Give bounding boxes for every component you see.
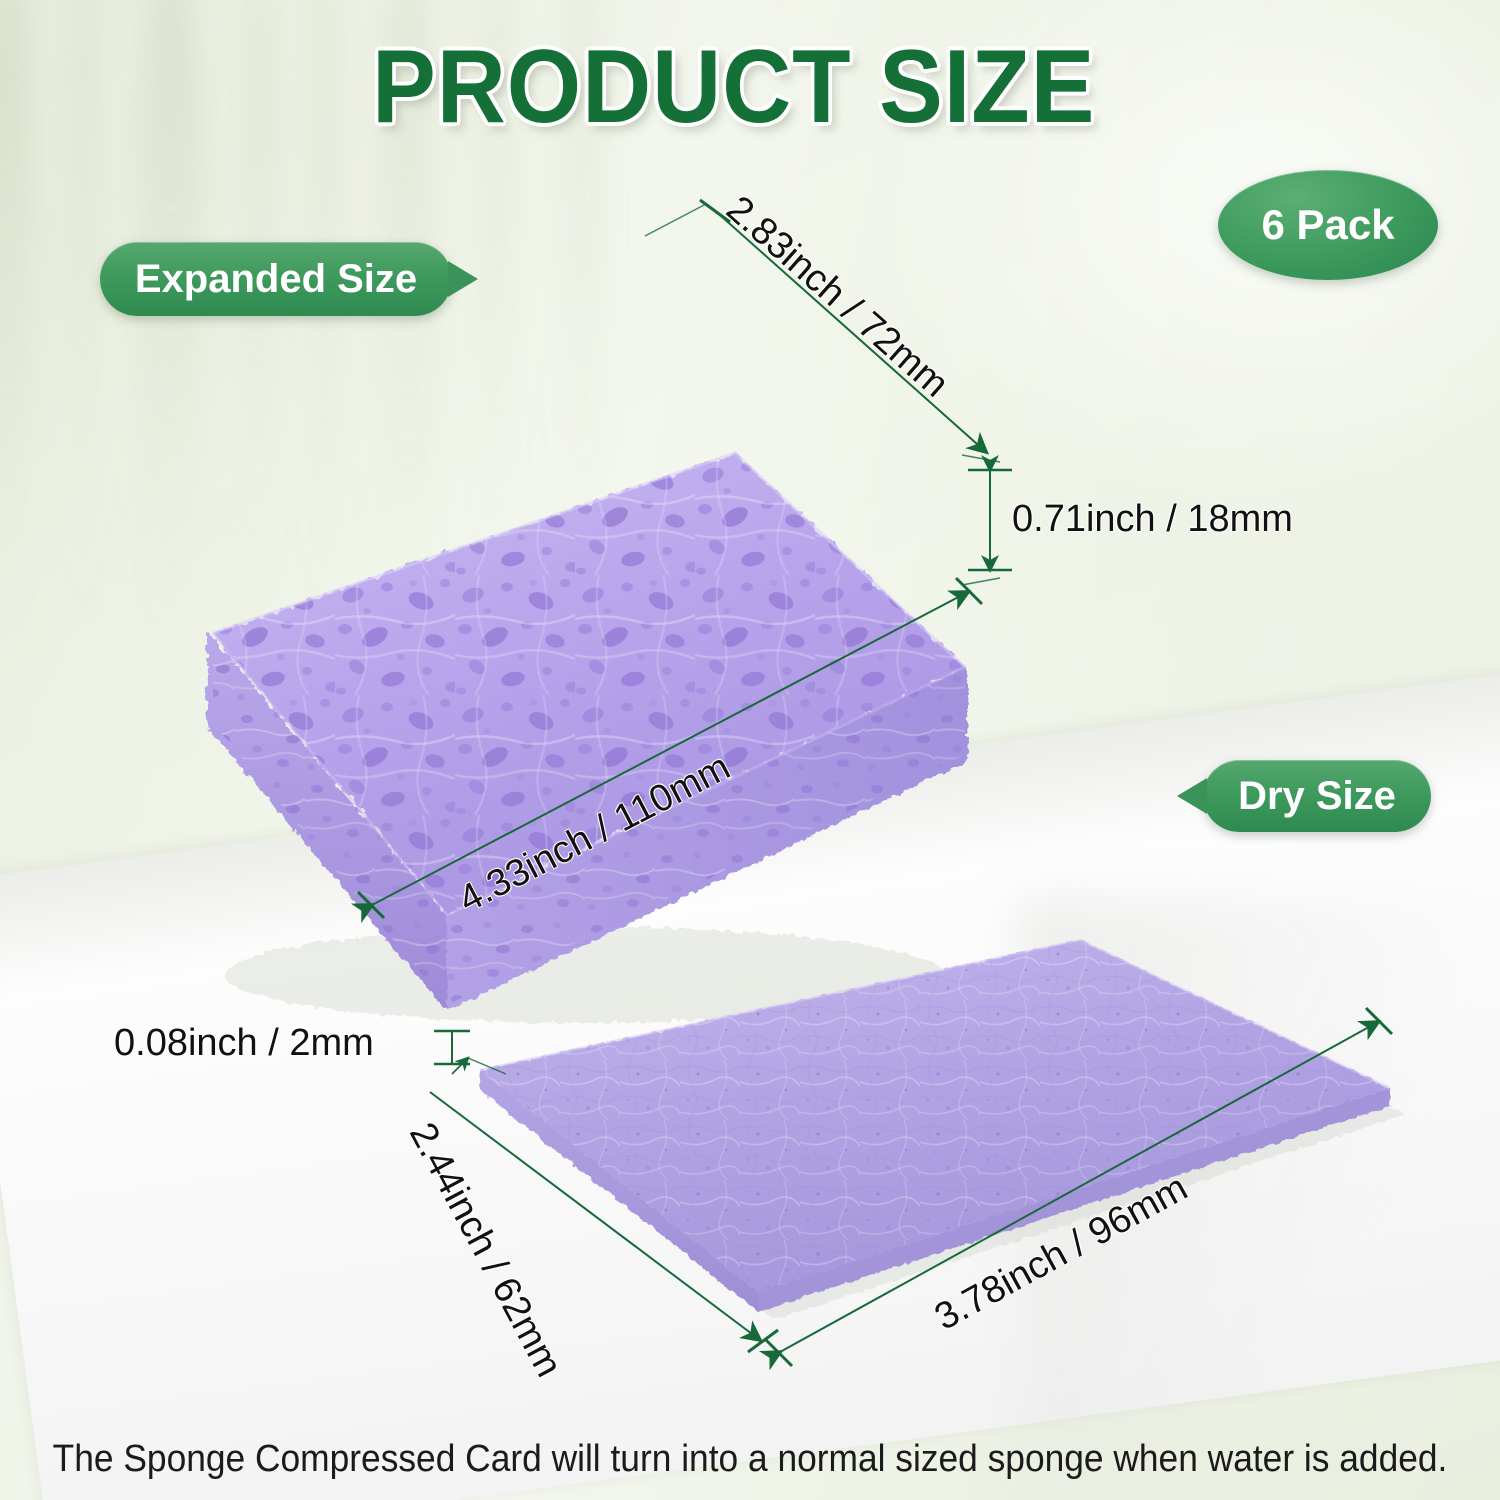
expanded-thickness-label: 0.71inch / 18mm — [1012, 498, 1293, 541]
footer-caption: The Sponge Compressed Card will turn int… — [53, 1438, 1448, 1481]
pack-count-label: 6 Pack — [1261, 201, 1394, 249]
dry-size-label: Dry Size — [1238, 774, 1396, 819]
badge-tail-left-icon — [1177, 778, 1207, 814]
page-title: PRODUCT SIZE — [372, 28, 1095, 147]
dry-thickness-label: 0.08inch / 2mm — [114, 1022, 374, 1065]
pack-count-badge: 6 Pack — [1218, 170, 1438, 280]
dry-size-badge: Dry Size — [1203, 760, 1431, 832]
product-size-infographic: PRODUCT SIZE 6 Pack Expanded Size Dry Si… — [0, 0, 1500, 1500]
